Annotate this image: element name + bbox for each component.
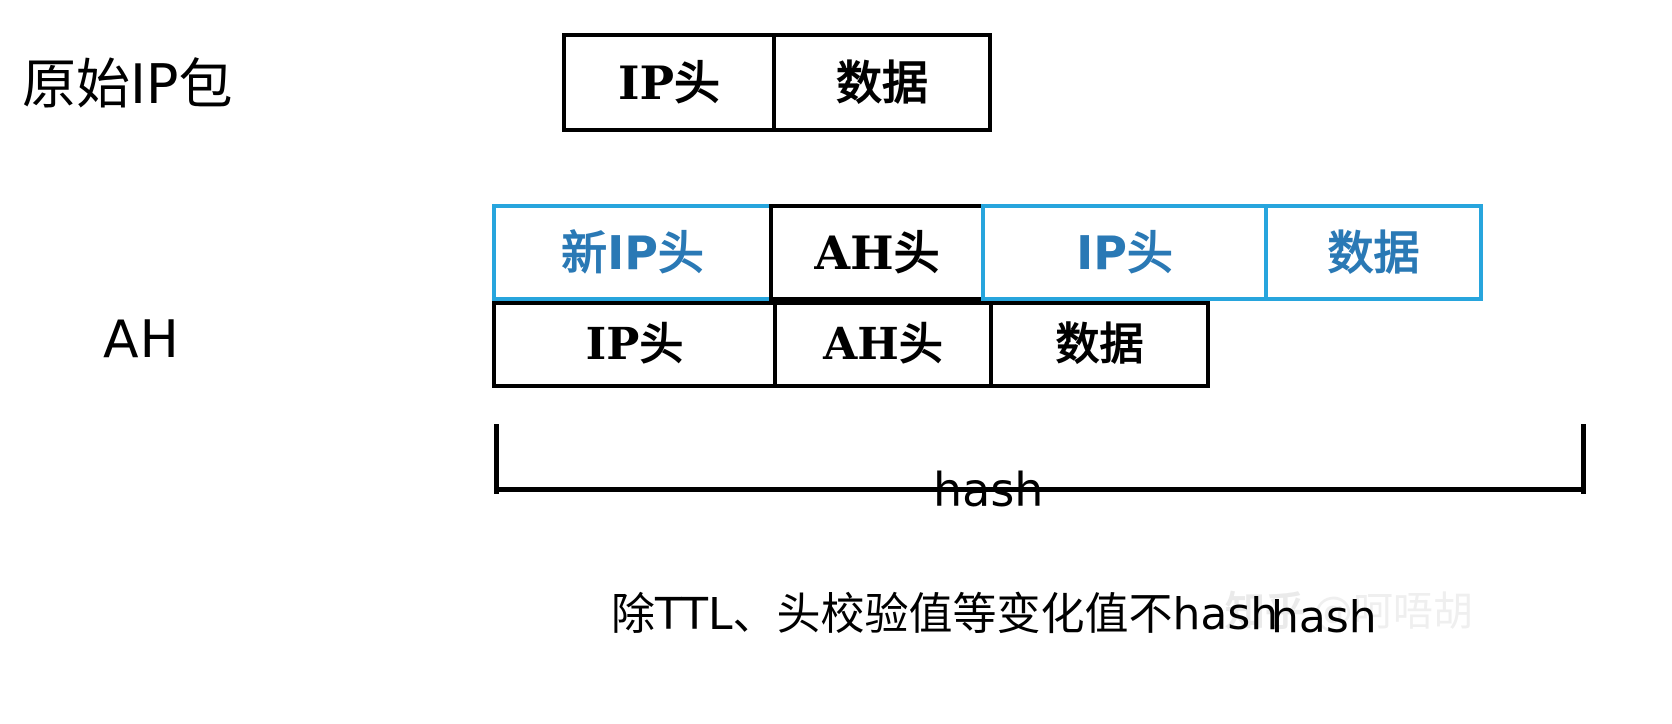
- packet-cell-ah-header: AH头: [769, 204, 985, 301]
- diagram-canvas: 原始IP包 AH IP头 数据 新IP头 AH头 IP头 数据 IP头 AH头 …: [0, 0, 1672, 724]
- packet-cell-inner-data: 数据: [1264, 204, 1483, 301]
- packet-row-ah-tunnel: 新IP头 AH头 IP头 数据: [492, 204, 1483, 301]
- packet-cell-inner-ip-header: IP头: [981, 204, 1268, 301]
- packet-row-ah-transport: IP头 AH头 数据: [492, 301, 1210, 388]
- bracket-right-tick-icon: [1581, 424, 1586, 494]
- packet-row-original: IP头 数据: [562, 33, 992, 132]
- packet-cell-transport-data: 数据: [993, 301, 1210, 388]
- packet-cell-ip-header: IP头: [562, 33, 776, 132]
- hash-span-label: hash: [933, 467, 1043, 513]
- packet-cell-data: 数据: [776, 33, 992, 132]
- caption-note: 除TTL、头校验值等变化值不hash: [611, 593, 1278, 637]
- row-label-ah: AH: [103, 314, 180, 366]
- packet-cell-transport-ip-header: IP头: [492, 301, 777, 388]
- caption-overlay-hash: hash: [1271, 596, 1377, 640]
- packet-cell-new-ip-header: 新IP头: [492, 204, 773, 301]
- packet-cell-transport-ah-header: AH头: [777, 301, 993, 388]
- bracket-left-tick-icon: [494, 424, 499, 494]
- row-label-original-packet: 原始IP包: [22, 58, 233, 112]
